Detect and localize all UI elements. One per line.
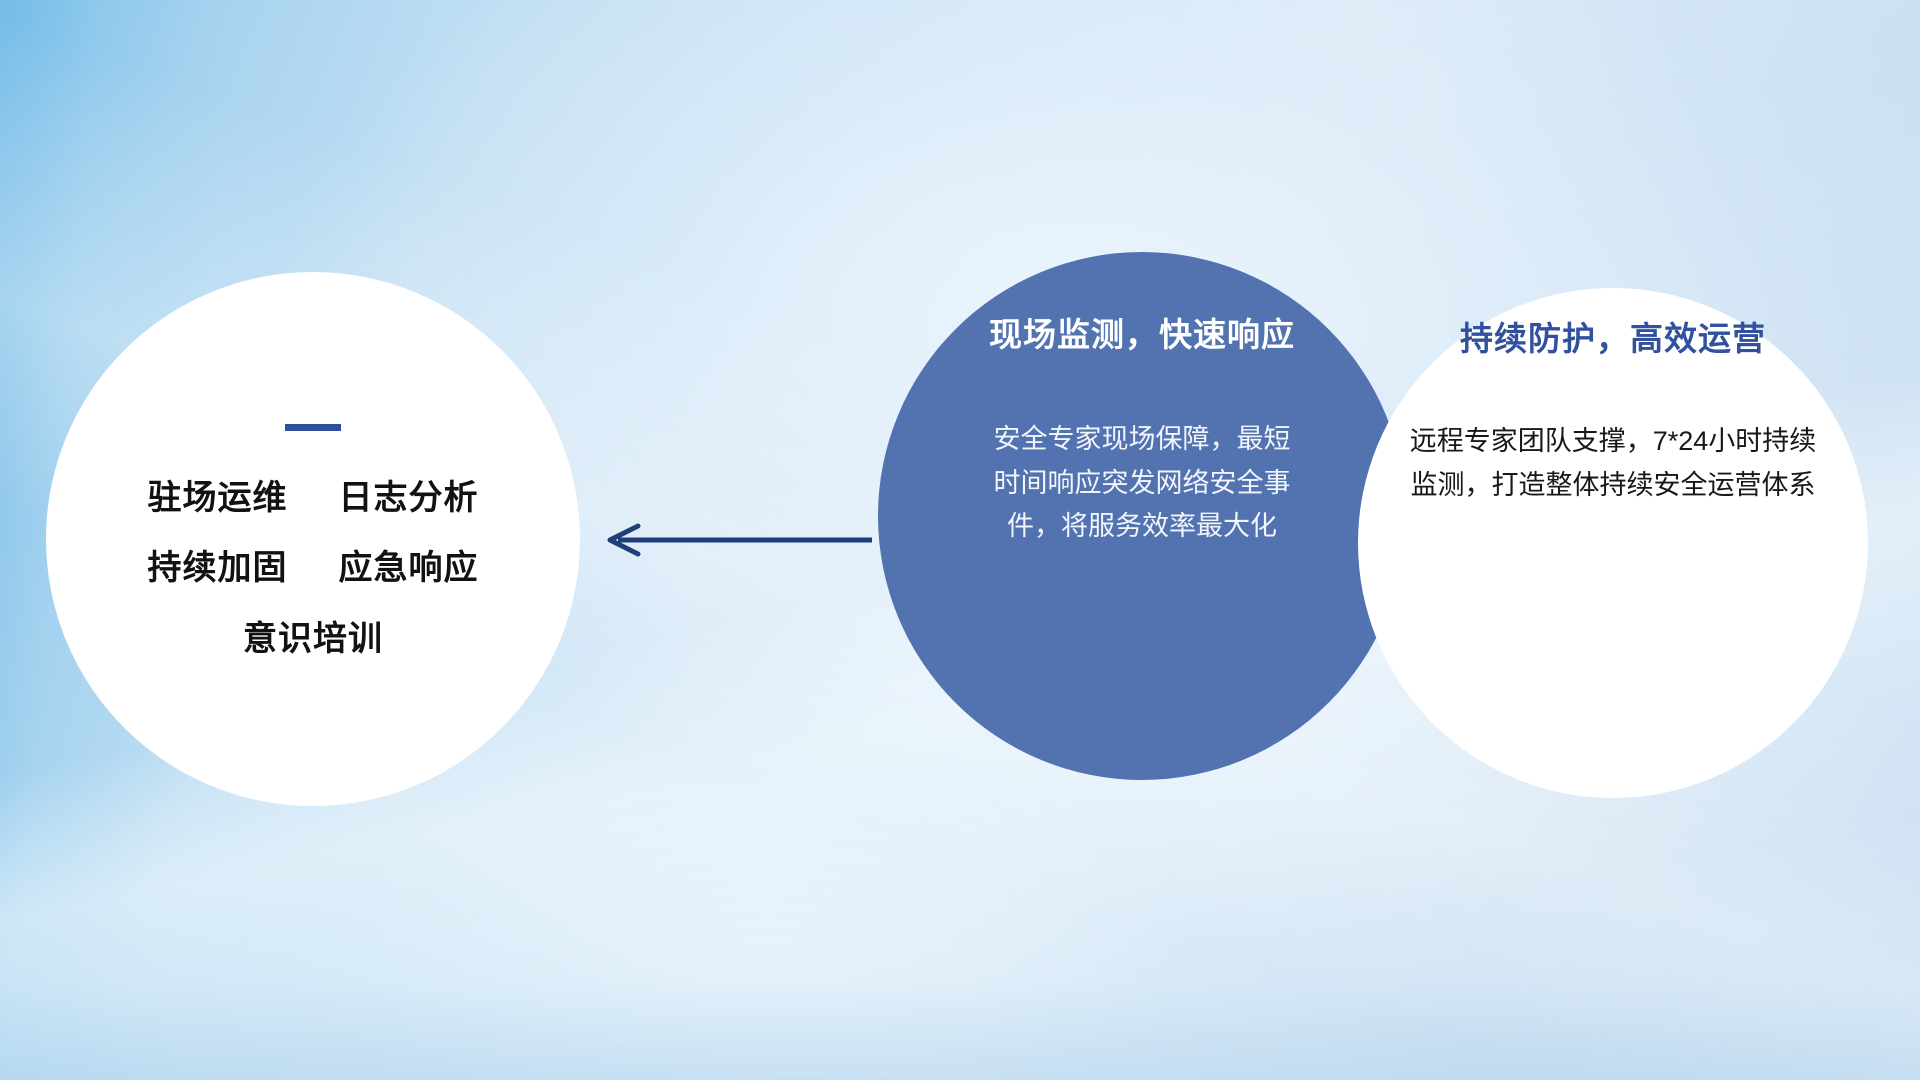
right-card-title: 持续防护，高效运营 [1460,312,1766,360]
capability-card-right-content: 持续防护，高效运营 远程专家团队支撑，7*24小时持续监测，打造整体持续安全运营… [1358,288,1868,798]
capability-label-yishi-peixun: 意识培训 [243,620,383,658]
capability-label-yingji-xiangying: 应急响应 [338,549,478,587]
capability-label-chixu-jiagu: 持续加固 [148,549,288,587]
capability-row-3: 意识培训 [243,618,383,661]
short-dash-divider [285,424,341,431]
capability-card-right[interactable]: 持续防护，高效运营 远程专家团队支撑，7*24小时持续监测，打造整体持续安全运营… [1358,288,1868,798]
middle-card-body: 安全专家现场保障，最短时间响应突发网络安全事件，将服务效率最大化 [992,418,1292,549]
capability-row-1: 驻场运维 日志分析 [148,477,479,520]
capability-card-left[interactable]: 驻场运维 日志分析 持续加固 应急响应 意识培训 [46,272,580,806]
capability-card-middle[interactable]: 现场监测，快速响应 安全专家现场保障，最短时间响应突发网络安全事件，将服务效率最… [878,252,1406,780]
capability-label-rizhi-fenxi: 日志分析 [338,479,478,517]
capability-row-2: 持续加固 应急响应 [148,547,479,590]
arrow-left-icon [596,516,876,564]
capability-card-middle-content: 现场监测，快速响应 安全专家现场保障，最短时间响应突发网络安全事件，将服务效率最… [878,252,1406,780]
right-card-body: 远程专家团队支撑，7*24小时持续监测，打造整体持续安全运营体系 [1398,420,1828,507]
capability-label-zhuchang-yunwei: 驻场运维 [148,479,288,517]
slide-canvas: 驻场运维 日志分析 持续加固 应急响应 意识培训 现场监测，快速响应 安全专家现… [0,0,1920,1080]
middle-card-title: 现场监测，快速响应 [989,308,1295,356]
capability-card-left-content: 驻场运维 日志分析 持续加固 应急响应 意识培训 [46,272,580,806]
